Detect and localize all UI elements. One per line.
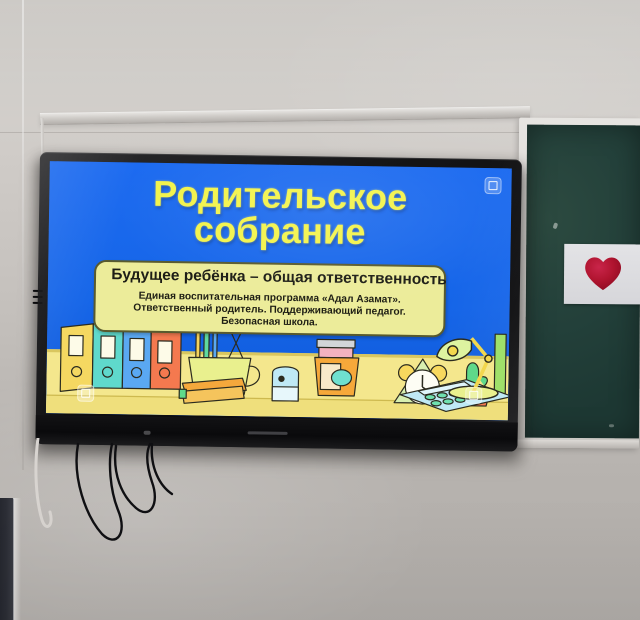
chalkboard-ledge xyxy=(517,440,639,449)
presentation-slide: Родительское собрание Будущее ребёнка – … xyxy=(46,161,512,420)
control-badge-icon-left[interactable] xyxy=(77,385,94,402)
heart-icon xyxy=(582,254,624,292)
wall-panel-edge xyxy=(22,0,24,470)
dark-foreground-object xyxy=(0,498,14,620)
app-badge-icon[interactable] xyxy=(484,177,501,194)
hanging-cables xyxy=(0,438,360,568)
panel-brand-logo xyxy=(248,431,288,435)
slide-title: Родительское собрание xyxy=(49,175,512,251)
board-ledge-mark xyxy=(609,424,614,427)
chalk-mark xyxy=(553,222,559,229)
dark-object-edge-light xyxy=(13,498,21,620)
heart-poster xyxy=(564,244,640,305)
slide-title-line2: собрание xyxy=(49,210,511,252)
control-badge-icon-right[interactable] xyxy=(465,387,482,404)
interactive-panel[interactable]: Родительское собрание Будущее ребёнка – … xyxy=(35,152,522,452)
panel-side-buttons[interactable] xyxy=(32,290,42,314)
panel-screen[interactable]: Родительское собрание Будущее ребёнка – … xyxy=(46,161,512,420)
slide-body-text: Единая воспитательная программа «Адал Аз… xyxy=(99,290,440,331)
ir-receiver xyxy=(144,431,151,435)
green-chalkboard xyxy=(517,118,640,449)
classroom-photo: Родительское собрание Будущее ребёнка – … xyxy=(0,0,640,620)
